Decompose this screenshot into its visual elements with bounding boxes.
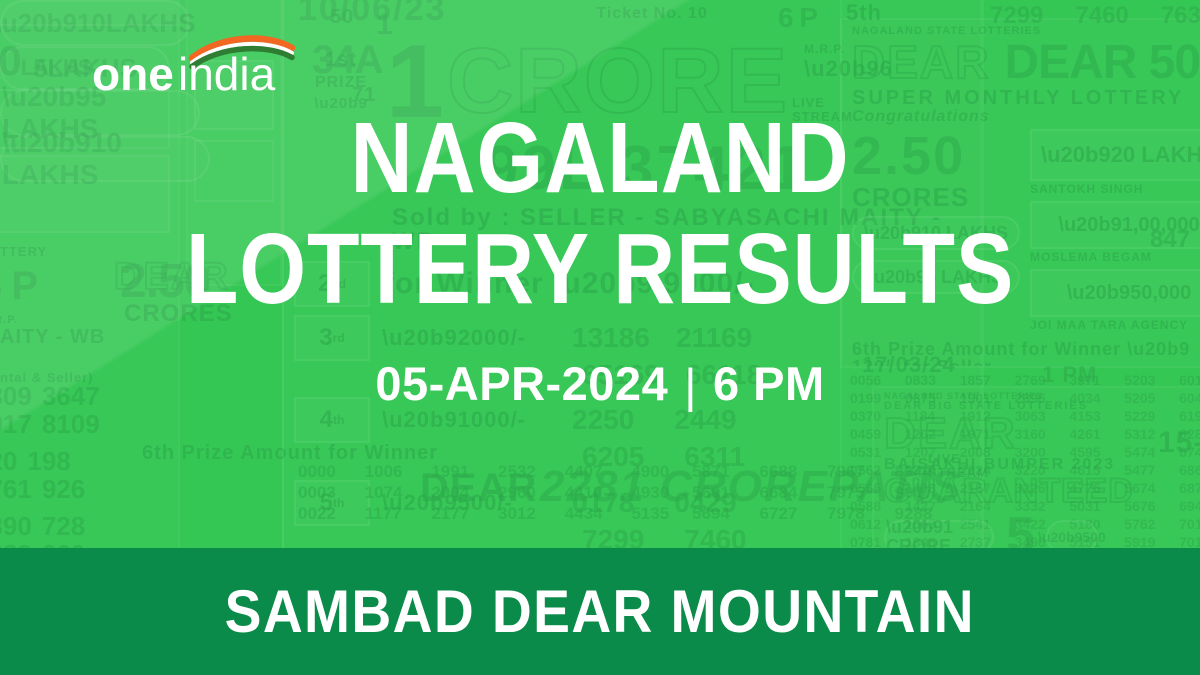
draw-time: 6 PM — [713, 357, 825, 410]
lottery-results-banner: 50LAKHS LOTTERY 6 P M.R.P. 6 13093647 89… — [0, 0, 1200, 675]
collage-text-1: 1 — [376, 8, 392, 42]
logo-word-india: india — [178, 48, 276, 100]
collage-text-5th-prize-top: 5th — [846, 0, 882, 26]
collage-text-mrp6: M.R.P.\u20b96 — [804, 42, 893, 83]
collage-text-6th-prize-left: 6th Prize Amount for Winner — [142, 442, 438, 465]
collage-text-6p: 6 P — [778, 2, 817, 34]
collage-ticket-baisakhi-bumper: NAGALAND STATE LOTTERIES DEAR BIG STATE … — [872, 386, 1200, 556]
lottery-name-label: SAMBAD DEAR MOUNTAIN — [225, 577, 975, 646]
collage-row-top-right-numbers: 729974607635 — [990, 2, 1200, 30]
collage-text-50: 50 — [330, 6, 354, 29]
collage-numgrid-left: 000010061991253244074900 000310742004296… — [296, 462, 686, 524]
collage-text-15: 15- — [1158, 426, 1200, 460]
separator: | — [684, 358, 697, 413]
collage-text-34a: 34A — [312, 38, 382, 83]
page-title-line-2: LOTTERY RESULTS — [84, 221, 1116, 318]
draw-date: 05-APR-2024 — [375, 357, 668, 410]
page-title-line-1: NAGALAND — [84, 110, 1116, 207]
headline-block: NAGALAND LOTTERY RESULTS 05-APR-2024|6 P… — [0, 110, 1200, 411]
draw-date-time: 05-APR-2024|6 PM — [0, 356, 1200, 411]
logo-word-one: one — [92, 48, 174, 100]
oneindia-logo[interactable]: one india — [92, 28, 302, 100]
collage-text-live-stream-right: LIVESTREAM — [928, 452, 989, 481]
lottery-name-bar: SAMBAD DEAR MOUNTAIN — [0, 548, 1200, 675]
